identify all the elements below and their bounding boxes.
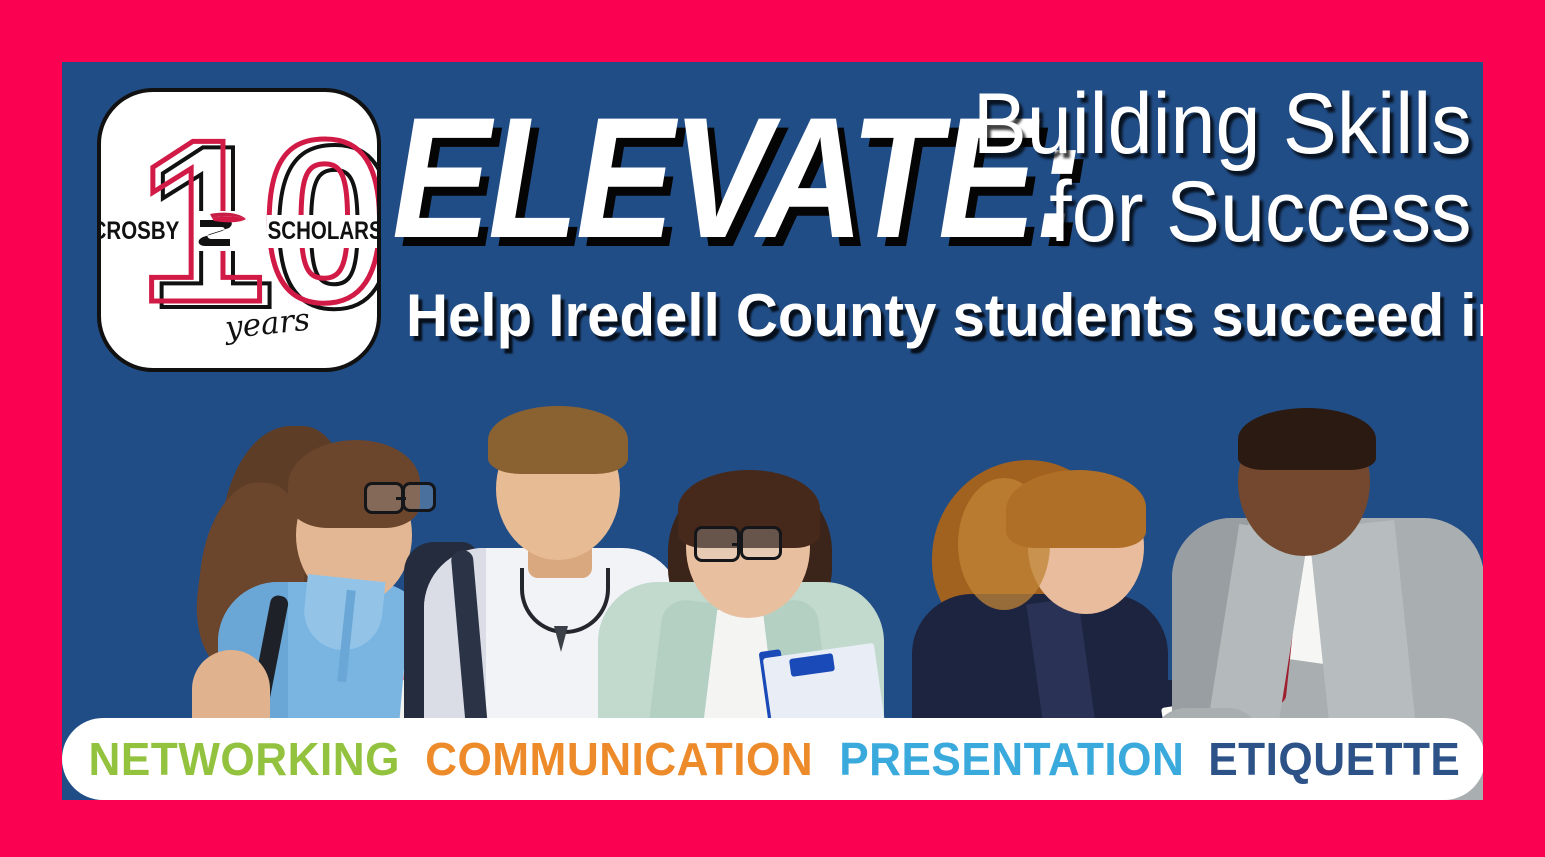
blue-content-panel: 10 10 CROSBY SCHOLARS years ELEVATE: [62, 62, 1483, 800]
elevate-promo-poster: 10 10 CROSBY SCHOLARS years ELEVATE: [0, 0, 1545, 857]
skill-etiquette: ETIQUETTE [1208, 732, 1460, 786]
skill-networking: NETWORKING [88, 732, 399, 786]
skill-presentation: PRESENTATION [839, 732, 1184, 786]
skill-communication: COMMUNICATION [425, 732, 813, 786]
headline-subtitle: Building Skills for Success [973, 80, 1472, 256]
logo-word-crosby: CROSBY [97, 215, 181, 248]
headline-block: ELEVATE: Building Skills for Success [392, 80, 1472, 300]
headline-subtitle-line-2: for Success [973, 168, 1472, 256]
headline-subtitle-line-1: Building Skills [973, 80, 1472, 168]
logo-wordmark: CROSBY SCHOLARS [101, 210, 377, 252]
logo-word-scholars: SCHOLARS [267, 215, 381, 248]
skills-bar: NETWORKING COMMUNICATION PRESENTATION ET… [62, 718, 1483, 800]
tagline-text: Help Iredell County students succeed in … [406, 284, 1444, 348]
crosby-scholars-10-years-logo: 10 10 CROSBY SCHOLARS years [97, 88, 381, 372]
crosby-scholars-swoosh-mark [196, 211, 248, 251]
